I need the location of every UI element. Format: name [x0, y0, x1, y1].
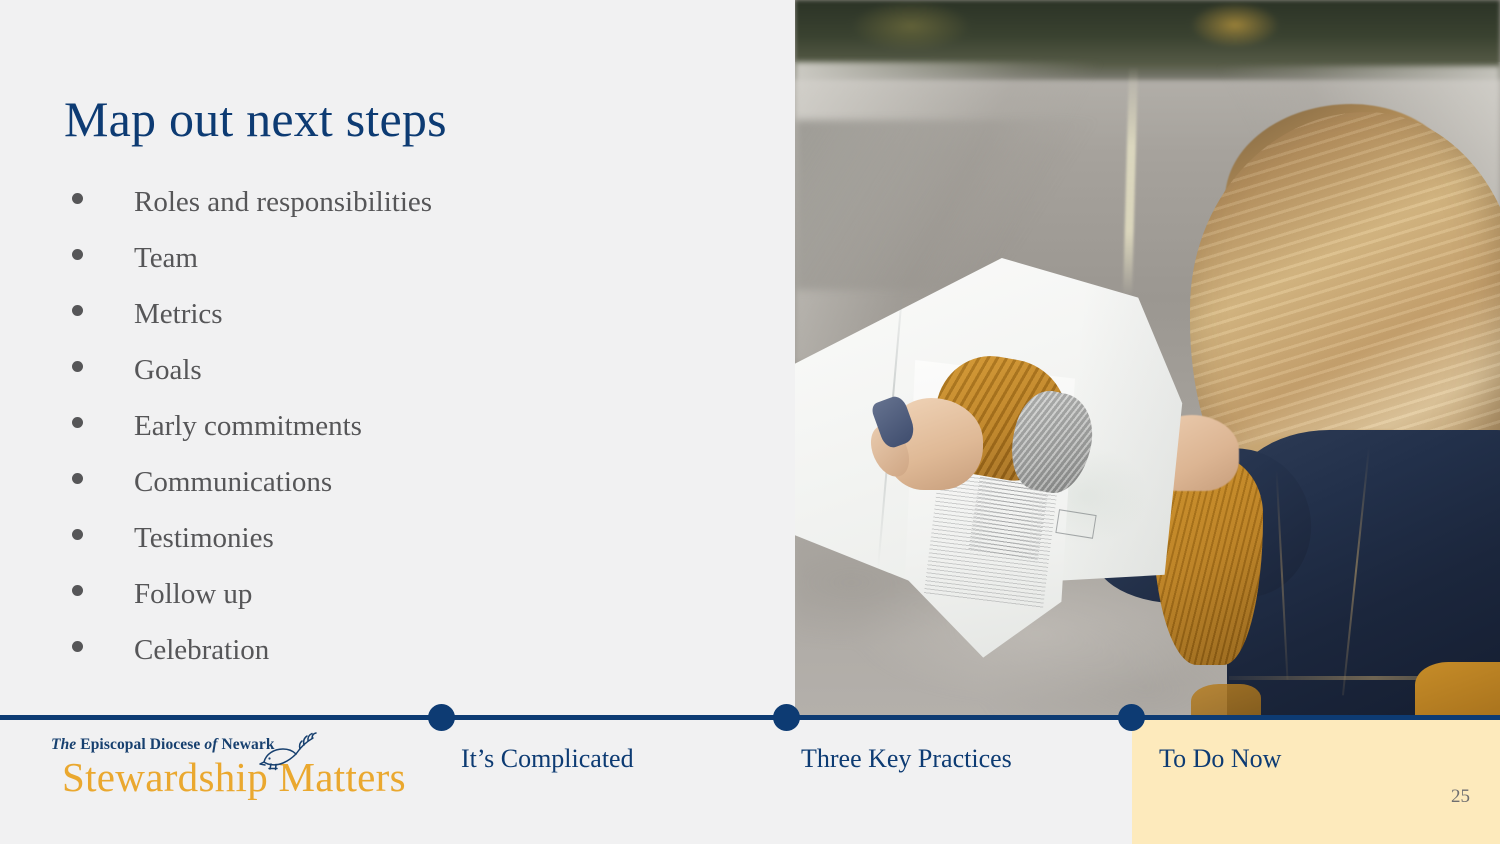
list-item-label: Communications	[134, 466, 332, 499]
bullet-dot-icon	[72, 473, 83, 484]
list-item-label: Testimonies	[134, 522, 274, 555]
list-item-label: Early commitments	[134, 410, 362, 443]
page-title: Map out next steps	[64, 92, 447, 147]
nav-dot-its-complicated[interactable]	[428, 704, 455, 731]
list-item: Testimonies	[72, 522, 752, 578]
dove-with-olive-branch-icon	[258, 732, 320, 774]
road-shoulder-left	[795, 120, 1125, 290]
list-item: Team	[72, 242, 752, 298]
nav-item-its-complicated[interactable]: It’s Complicated	[461, 744, 634, 774]
logo-word-of: of	[204, 736, 217, 753]
list-item: Goals	[72, 354, 752, 410]
nav-timeline	[0, 715, 1500, 720]
logo-word-diocese: Episcopal Diocese	[80, 736, 200, 753]
nav-dot-three-key-practices[interactable]	[773, 704, 800, 731]
slide: Map out next steps Roles and responsibil…	[0, 0, 1500, 844]
bullet-dot-icon	[72, 641, 83, 652]
bullet-dot-icon	[72, 249, 83, 260]
nav-dot-to-do-now[interactable]	[1118, 704, 1145, 731]
nav-item-three-key-practices[interactable]: Three Key Practices	[801, 744, 1012, 774]
bullet-dot-icon	[72, 193, 83, 204]
mustard-sweater-hem	[1191, 684, 1261, 719]
bullet-dot-icon	[72, 361, 83, 372]
logo-wordmark: Stewardship Matters	[62, 753, 406, 801]
list-item-label: Celebration	[134, 634, 269, 667]
list-item-label: Team	[134, 242, 198, 275]
bullet-dot-icon	[72, 305, 83, 316]
list-item: Roles and responsibilities	[72, 186, 752, 242]
bullet-list: Roles and responsibilities Team Metrics …	[72, 186, 752, 690]
mustard-sweater-hem	[1415, 662, 1500, 719]
list-item-label: Metrics	[134, 298, 223, 331]
logo-tagline: The Episcopal Diocese of Newark	[51, 736, 275, 754]
page-number: 25	[1451, 786, 1470, 808]
list-item-label: Goals	[134, 354, 202, 387]
bullet-dot-icon	[72, 529, 83, 540]
list-item: Communications	[72, 466, 752, 522]
active-section-highlight	[1132, 720, 1500, 844]
bullet-dot-icon	[72, 417, 83, 428]
nav-item-to-do-now[interactable]: To Do Now	[1159, 744, 1281, 774]
photo-image	[795, 0, 1500, 719]
list-item: Celebration	[72, 634, 752, 690]
list-item: Early commitments	[72, 410, 752, 466]
bullet-dot-icon	[72, 585, 83, 596]
organization-logo: The Episcopal Diocese of Newark Stewards…	[46, 736, 416, 806]
list-item: Follow up	[72, 578, 752, 634]
logo-word-the: The	[51, 736, 76, 753]
list-item: Metrics	[72, 298, 752, 354]
list-item-label: Roles and responsibilities	[134, 186, 432, 219]
list-item-label: Follow up	[134, 578, 252, 611]
